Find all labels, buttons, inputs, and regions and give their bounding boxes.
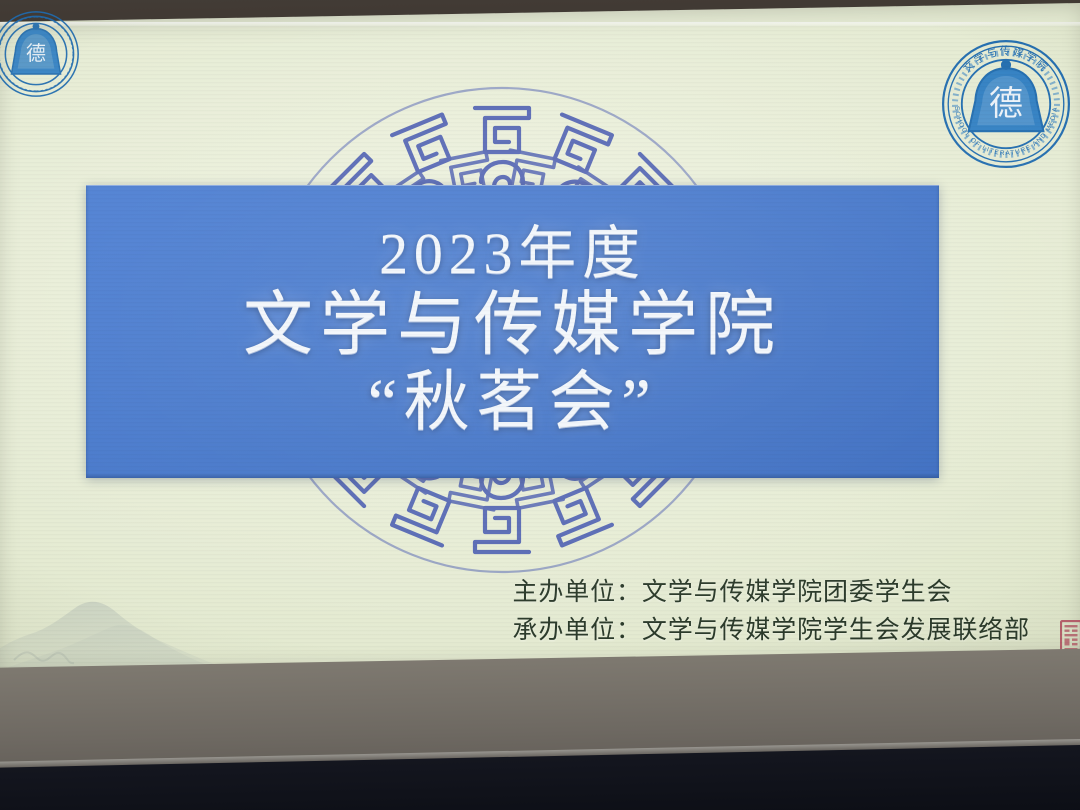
title-text-block: 2023年度 文学与传媒学院 “秋茗会” (86, 185, 939, 478)
school-emblem-icon: 德 (0, 8, 82, 100)
emblem-center-glyph: 德 (26, 42, 46, 65)
title-line-year: 2023年度 (379, 223, 646, 286)
organizer-undertaker-line: 承办单位：文学与传媒学院学生会发展联络部 (512, 612, 1030, 650)
screen-top-glow (0, 22, 1080, 27)
projection-screen: 德 德 文学与传媒学院 (0, 3, 1080, 678)
photo-of-projected-slide: 德 德 文学与传媒学院 (0, 0, 1080, 810)
title-line-school: 文学与传媒学院 (243, 287, 782, 364)
slide-canvas: 德 德 文学与传媒学院 (0, 22, 1080, 678)
title-banner: 2023年度 文学与传媒学院 “秋茗会” (86, 185, 939, 478)
organizer-host-line: 主办单位：文学与传媒学院团委学生会 (512, 574, 1030, 612)
organizer-block: 主办单位：文学与传媒学院团委学生会 承办单位：文学与传媒学院学生会发展联络部 (512, 574, 1030, 650)
title-line-event: “秋茗会” (368, 366, 658, 440)
school-emblem-icon: 德 文学与传媒学院 SCHOOL OF LITERATURE AND MEDIA (938, 36, 1074, 172)
emblem-center-glyph: 德 (989, 85, 1023, 123)
